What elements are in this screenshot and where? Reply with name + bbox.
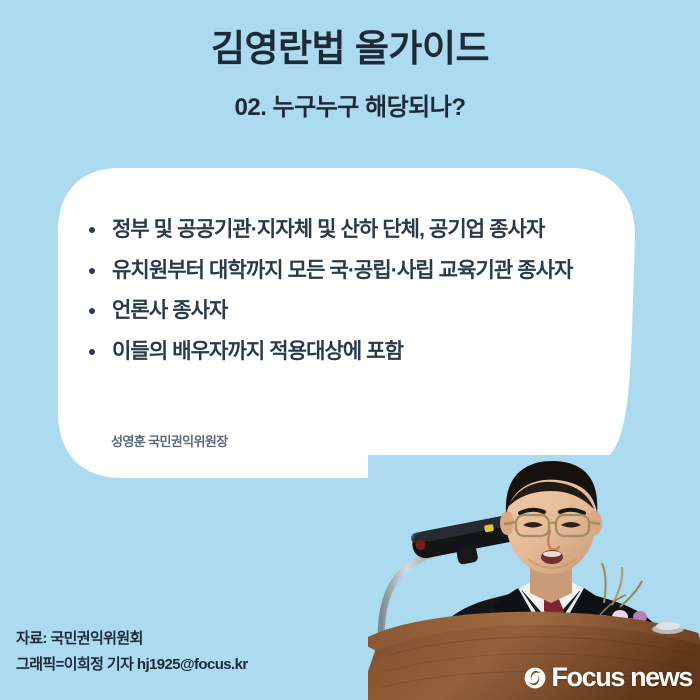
footer-credits: 자료: 국민권익위원회 그래픽=이희정 기자 hj1925@focus.kr — [16, 626, 248, 679]
list-item: 언론사 종사자 — [85, 297, 630, 325]
bullet-dot-icon — [89, 349, 95, 355]
list-item: 이들의 배우자까지 적용대상에 포함 — [85, 338, 630, 366]
speaker-photo: Focus news — [368, 455, 700, 700]
speaker-attribution: 성영훈 국민권익위원장 — [111, 431, 228, 450]
focus-news-wordmark: Focus news — [551, 664, 692, 691]
criteria-list: 정부 및 공공기관·지자체 및 산하 단체, 공기업 종사자 유치원부터 대학까… — [85, 216, 630, 379]
list-item-label: 이들의 배우자까지 적용대상에 포함 — [112, 340, 403, 363]
bullet-dot-icon — [89, 227, 95, 233]
focus-swirl-icon — [523, 666, 547, 690]
infographic-card: 김영란법 올가이드 02. 누구누구 해당되나? 정부 및 공공기관·지자체 및… — [0, 0, 700, 700]
bullet-dot-icon — [89, 268, 95, 274]
page-title: 김영란법 올가이드 — [0, 27, 700, 71]
list-item-label: 정부 및 공공기관·지자체 및 산하 단체, 공기업 종사자 — [112, 218, 544, 241]
list-item-label: 유치원부터 대학까지 모든 국·공립·사립 교육기관 종사자 — [112, 259, 573, 282]
list-item: 유치원부터 대학까지 모든 국·공립·사립 교육기관 종사자 — [85, 257, 630, 285]
source-line: 자료: 국민권익위원회 — [16, 626, 248, 652]
list-item-label: 언론사 종사자 — [112, 299, 227, 322]
page-subtitle: 02. 누구누구 해당되나? — [0, 94, 700, 123]
speech-bubble-content: 정부 및 공공기관·지자체 및 산하 단체, 공기업 종사자 유치원부터 대학까… — [60, 168, 638, 480]
graphic-credit-line: 그래픽=이희정 기자 hj1925@focus.kr — [16, 652, 248, 678]
list-item: 정부 및 공공기관·지자체 및 산하 단체, 공기업 종사자 — [85, 216, 630, 244]
bullet-dot-icon — [89, 308, 95, 314]
focus-news-logo: Focus news — [523, 664, 692, 691]
